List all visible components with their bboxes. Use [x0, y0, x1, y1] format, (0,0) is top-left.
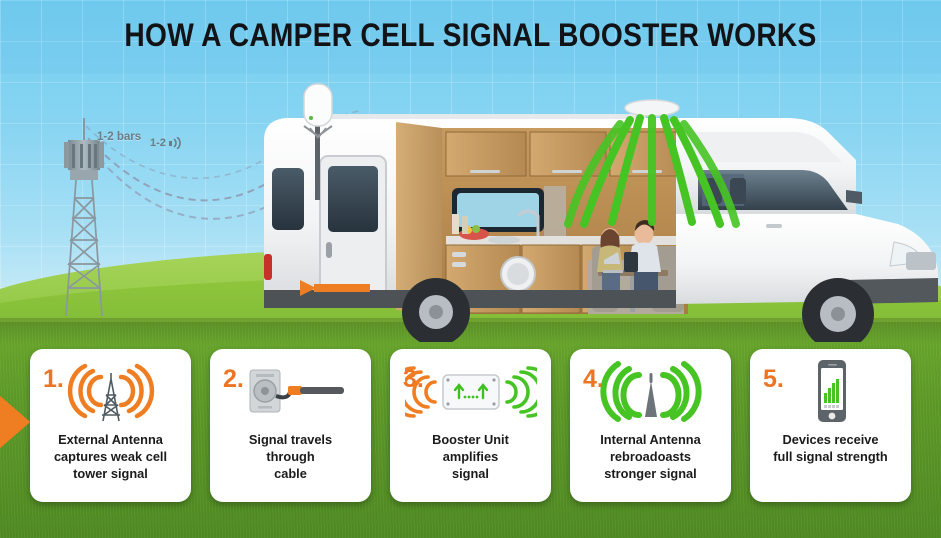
- smartphone-full-bars-icon: [750, 359, 911, 425]
- step-text-line: Devices receive: [756, 431, 905, 448]
- step-text-line: Signal travels: [216, 431, 365, 448]
- step-text-line: cable: [216, 465, 365, 482]
- cell-tower-signal-icon: [30, 359, 191, 425]
- step-text-line: Internal Antenna: [576, 431, 725, 448]
- step-card-2[interactable]: 2. Signal travels through cable: [210, 349, 371, 502]
- step-text-line: External Antenna: [36, 431, 185, 448]
- coax-cable-connector-icon: [210, 359, 371, 425]
- internal-antenna-broadcast-icon: [570, 359, 731, 425]
- infographic-canvas: HOW A CAMPER CELL SIGNAL BOOSTER WORKS: [0, 0, 941, 538]
- booster-unit-icon: [390, 359, 551, 425]
- orange-flow-arrow-icon: [300, 276, 370, 300]
- step-text-1: External Antenna captures weak cell towe…: [36, 431, 185, 482]
- step-text-line: full signal strength: [756, 448, 905, 465]
- step-text-3: Booster Unit amplifies signal: [396, 431, 545, 482]
- step-text-line: Booster Unit: [396, 431, 545, 448]
- internal-antenna-dome-icon: [562, 98, 742, 228]
- step-text-line: signal: [396, 465, 545, 482]
- cell-tower-icon: [50, 118, 120, 318]
- step-card-1[interactable]: 1.: [30, 349, 191, 502]
- step-text-line: tower signal: [36, 465, 185, 482]
- step-text-line: stronger signal: [576, 465, 725, 482]
- steps-row: 1.: [0, 349, 941, 504]
- step-text-line: through: [216, 448, 365, 465]
- step-card-3[interactable]: 3.: [390, 349, 551, 502]
- page-title: HOW A CAMPER CELL SIGNAL BOOSTER WORKS: [56, 17, 884, 54]
- step-text-line: amplifies: [396, 448, 545, 465]
- tower-signal-label: 1-2: [150, 137, 184, 149]
- step-text-2: Signal travels through cable: [216, 431, 365, 482]
- external-antenna-icon: [290, 80, 350, 200]
- step-card-4[interactable]: 4. Internal Antenna reb: [570, 349, 731, 502]
- step-text-line: rebroadoasts: [576, 448, 725, 465]
- step-text-4: Internal Antenna rebroadoasts stronger s…: [576, 431, 725, 482]
- tower-bars-label: 1-2 bars: [97, 131, 141, 143]
- tower-signal-value: 1-2: [150, 137, 166, 149]
- step-text-5: Devices receive full signal strength: [756, 431, 905, 465]
- step-card-5[interactable]: 5.: [750, 349, 911, 502]
- step-text-line: captures weak cell: [36, 448, 185, 465]
- signal-arcs-icon: [169, 137, 184, 149]
- connector-arrow-4: [0, 396, 32, 448]
